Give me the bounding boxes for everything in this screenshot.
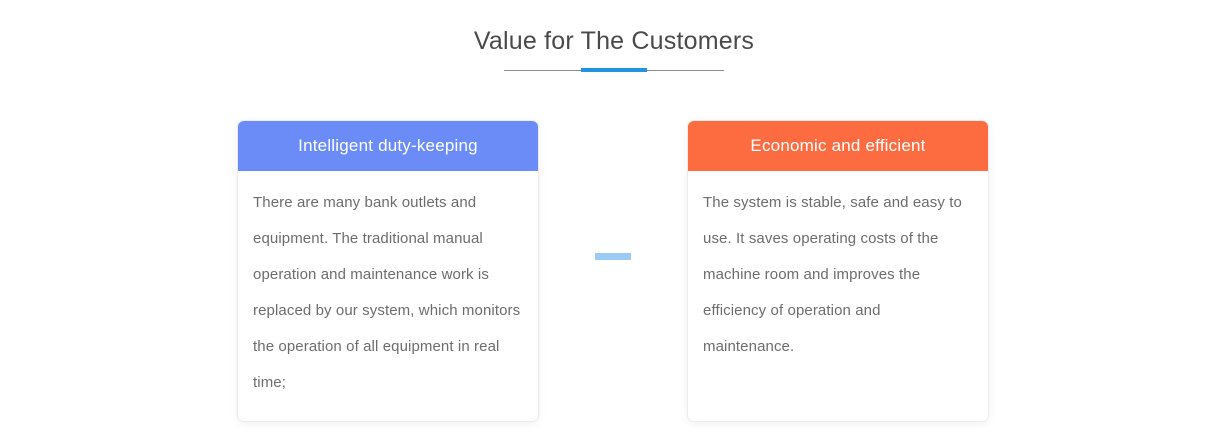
section-header: Value for The Customers <box>0 24 1228 74</box>
title-divider <box>504 68 724 74</box>
card-header-intelligent-duty-keeping: Intelligent duty-keeping <box>238 121 538 171</box>
card-economic-and-efficient[interactable]: Economic and efficient The system is sta… <box>687 120 989 422</box>
page-title: Value for The Customers <box>0 24 1228 58</box>
value-cards-row: Intelligent duty-keeping There are many … <box>237 120 989 400</box>
card-header-economic-and-efficient: Economic and efficient <box>688 121 988 171</box>
card-body-intelligent-duty-keeping: There are many bank outlets and equipmen… <box>238 171 538 421</box>
divider-accent-bar <box>581 68 647 72</box>
connector-dash-icon <box>595 253 631 260</box>
card-intelligent-duty-keeping[interactable]: Intelligent duty-keeping There are many … <box>237 120 539 422</box>
card-body-economic-and-efficient: The system is stable, safe and easy to u… <box>688 171 988 421</box>
